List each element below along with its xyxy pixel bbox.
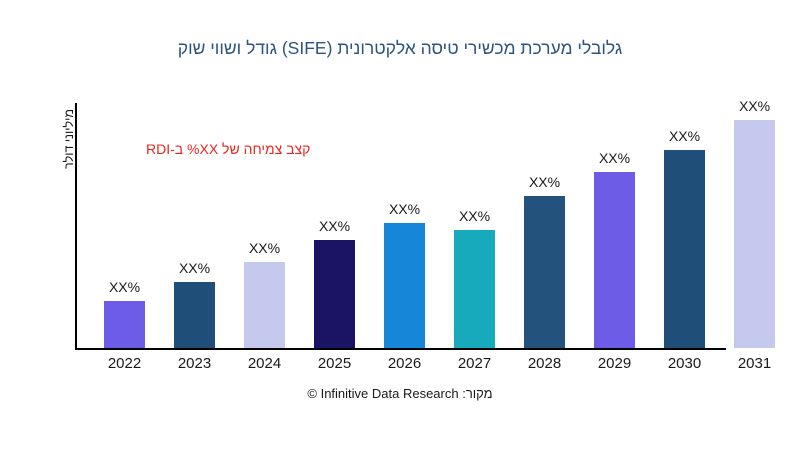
x-tick-2028: 2028 [510,355,579,372]
bar-value-label-2030: XX% [652,128,717,144]
bar-2024 [244,262,285,348]
x-tick-2022: 2022 [90,355,159,372]
x-tick-2029: 2029 [580,355,649,372]
bar-2023 [174,282,215,348]
x-tick-2023: 2023 [160,355,229,372]
bar-value-label-2031: XX% [722,98,787,114]
bar-value-label-2024: XX% [232,240,297,256]
source-note: מקור: Infinitive Data Research © [0,386,800,401]
bar-2025 [314,240,355,348]
bar-value-label-2025: XX% [302,218,367,234]
x-tick-2026: 2026 [370,355,439,372]
bar-value-label-2028: XX% [512,174,577,190]
bar-value-label-2027: XX% [442,208,507,224]
bar-value-label-2022: XX% [92,279,157,295]
chart-container: גלובלי מערכת מכשירי טיסה אלקטרונית (EFIS… [0,0,800,450]
bar-value-label-2023: XX% [162,260,227,276]
x-tick-2030: 2030 [650,355,719,372]
x-axis-line [75,348,726,350]
chart-title: גלובלי מערכת מכשירי טיסה אלקטרונית (EFIS… [0,38,800,59]
bar-2026 [384,223,425,348]
bar-value-label-2026: XX% [372,201,437,217]
bar-2029 [594,172,635,348]
plot-area: XX%XX%XX%XX%XX%XX%XX%XX%XX%XX% [75,103,775,348]
x-tick-2025: 2025 [300,355,369,372]
bar-2031 [734,120,775,348]
bar-2022 [104,301,145,348]
bar-2030 [664,150,705,348]
bar-value-label-2029: XX% [582,150,647,166]
x-tick-2031: 2031 [720,355,789,372]
bar-2027 [454,230,495,348]
bar-2028 [524,196,565,348]
y-axis-line [75,103,77,348]
x-tick-2027: 2027 [440,355,509,372]
x-tick-2024: 2024 [230,355,299,372]
